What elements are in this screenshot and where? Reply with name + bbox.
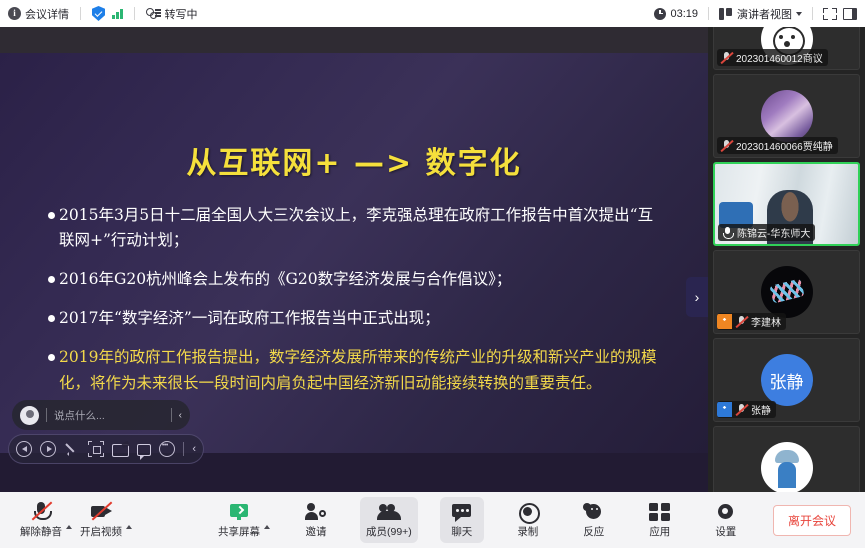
share-screen-group: 共享屏幕 — [212, 497, 272, 543]
participant-tile[interactable] — [713, 426, 860, 492]
slide-bullet-list: 2015年3月5日十二届全国人大三次会议上，李克强总理在政府工作报告中首次提出“… — [48, 203, 668, 410]
spotlight-icon[interactable] — [88, 441, 104, 457]
share-screen-label: 共享屏幕 — [218, 524, 260, 539]
meeting-app-window: i 会议详情 转写中 03:19 演讲者视图 — [0, 0, 865, 548]
meeting-info-label: 会议详情 — [25, 6, 69, 22]
avatar — [761, 442, 813, 492]
avatar — [761, 266, 813, 318]
host-badge-icon — [717, 314, 732, 329]
list-item: 2016年G20杭州峰会上发布的《G20数字经济发展与合作倡议》； — [48, 267, 668, 292]
unmute-button[interactable]: 解除静音 — [14, 497, 68, 543]
view-mode-label: 演讲者视图 — [737, 6, 792, 22]
side-panel-icon[interactable] — [843, 8, 857, 20]
reaction-button[interactable]: 反应 — [572, 497, 616, 543]
signal-bars-icon[interactable] — [112, 8, 123, 19]
start-video-group: 开启视频 — [74, 497, 134, 543]
chat-label: 聊天 — [451, 524, 472, 539]
participants-icon — [378, 502, 400, 521]
pen-icon[interactable] — [64, 441, 80, 457]
participant-label: 202301460012商议 — [717, 49, 828, 66]
bottom-toolbar: 解除静音 开启视频 共享屏幕 邀请 成员(9 — [0, 492, 865, 548]
divider — [134, 7, 135, 20]
chat-bubble-icon — [451, 502, 473, 521]
invite-user-icon — [305, 502, 327, 521]
record-label: 录制 — [517, 524, 538, 539]
top-bar: i 会议详情 转写中 03:19 演讲者视图 — [0, 0, 865, 27]
prev-slide-icon[interactable] — [16, 441, 32, 457]
settings-button[interactable]: 设置 — [704, 497, 748, 543]
members-button[interactable]: 成员(99+) — [360, 497, 418, 543]
list-item: 2017年“数字经济”一词在政府工作报告当中正式出现； — [48, 306, 668, 331]
divider — [812, 7, 813, 20]
divider — [708, 7, 709, 20]
cohost-badge-icon — [717, 402, 732, 417]
elapsed-timer: 03:19 — [654, 8, 698, 20]
reaction-smiley-icon — [583, 502, 605, 521]
apps-grid-icon — [649, 502, 670, 521]
bullet-text: 2016年G20杭州峰会上发布的《G20数字经济发展与合作倡议》； — [59, 267, 668, 292]
elapsed-time: 03:19 — [670, 8, 698, 20]
chat-button[interactable]: 聊天 — [440, 497, 484, 543]
participant-rail[interactable]: 202301460012商议 202301460066贾纯静 陈锦云-华东师大 — [708, 27, 865, 492]
divider — [80, 7, 81, 20]
shield-check-icon[interactable] — [92, 6, 105, 21]
view-mode-selector[interactable]: 演讲者视图 — [719, 6, 802, 22]
mic-muted-icon — [735, 315, 748, 328]
apps-label: 应用 — [649, 524, 670, 539]
reaction-label: 反应 — [583, 524, 604, 539]
unmute-label: 解除静音 — [20, 524, 62, 539]
participant-label: 202301460066贾纯静 — [717, 137, 838, 154]
participant-tile-active-speaker[interactable]: 陈锦云-华东师大 — [713, 162, 860, 246]
chevron-left-icon[interactable]: ‹ — [179, 410, 182, 421]
annotation-toolbar: ‹ — [8, 434, 204, 464]
fullscreen-icon[interactable] — [823, 8, 837, 20]
bullet-text: 2019年的政府工作报告提出，数字经济发展所带来的传统产业的升级和新兴产业的规模… — [59, 345, 668, 395]
bullet-text: 2015年3月5日十二届全国人大三次会议上，李克强总理在政府工作报告中首次提出“… — [59, 203, 668, 253]
mic-muted-icon — [735, 403, 748, 416]
share-screen-button[interactable]: 共享屏幕 — [212, 497, 266, 543]
participant-tile[interactable]: 张静 张静 — [713, 338, 860, 422]
settings-label: 设置 — [715, 524, 736, 539]
bullet-dot-icon — [48, 276, 55, 283]
transcribe-label: 转写中 — [165, 6, 198, 22]
shared-slide: 从互联网+ —> 数字化 2015年3月5日十二届全国人大三次会议上，李克强总理… — [0, 53, 708, 453]
transcribe-icon — [146, 7, 161, 20]
participant-name: 张静 — [751, 402, 771, 417]
next-slide-icon[interactable] — [40, 441, 56, 457]
presentation-stage: 录制中 从互联网+ —> 数字化 2015年3月5日十二届全国人大三次会议上，李… — [0, 27, 708, 492]
participant-name: 陈锦云-华东师大 — [737, 225, 810, 240]
clock-icon — [654, 8, 666, 20]
participant-tile[interactable]: 李建林 — [713, 250, 860, 334]
microphone-muted-icon — [30, 502, 52, 521]
layout-icon — [719, 8, 733, 20]
comment-icon[interactable] — [137, 444, 152, 456]
invite-label: 邀请 — [306, 524, 327, 539]
bullet-dot-icon — [48, 315, 55, 322]
members-label: 成员(99+) — [366, 524, 412, 539]
chevron-down-icon — [796, 12, 802, 16]
record-button[interactable]: 录制 — [506, 497, 550, 543]
participant-tile[interactable]: 202301460012商议 — [713, 27, 860, 70]
divider — [46, 408, 47, 422]
mic-muted-icon — [720, 139, 733, 152]
participant-name: 202301460012商议 — [736, 50, 823, 65]
list-item: 2015年3月5日十二届全国人大三次会议上，李克强总理在政府工作报告中首次提出“… — [48, 203, 668, 253]
bullet-text: 2017年“数字经济”一词在政府工作报告当中正式出现； — [59, 306, 668, 331]
collapse-icon[interactable]: ‹ — [192, 443, 196, 455]
mic-on-icon — [721, 226, 734, 239]
bullet-dot-icon — [48, 212, 55, 219]
participant-label: 张静 — [717, 401, 776, 418]
mic-muted-icon — [720, 51, 733, 64]
divider — [183, 442, 184, 456]
chat-input[interactable]: 说点什么... — [54, 408, 164, 423]
top-bar-right: 03:19 演讲者视图 — [654, 6, 857, 22]
bullet-dot-icon — [48, 354, 55, 361]
record-icon — [517, 502, 539, 521]
user-avatar-icon — [20, 406, 39, 425]
next-participant-page-button[interactable]: › — [686, 277, 708, 317]
info-icon: i — [8, 7, 21, 20]
list-item: 2019年的政府工作报告提出，数字经济发展所带来的传统产业的升级和新兴产业的规模… — [48, 345, 668, 395]
note-icon[interactable] — [112, 444, 129, 457]
participant-name: 李建林 — [751, 314, 781, 329]
unmute-group: 解除静音 — [14, 497, 74, 543]
apps-button[interactable]: 应用 — [638, 497, 682, 543]
leave-meeting-button[interactable]: 离开会议 — [773, 505, 851, 536]
participant-tile[interactable]: 202301460066贾纯静 — [713, 74, 860, 158]
avatar: 张静 — [761, 354, 813, 406]
meeting-info-button[interactable]: i 会议详情 — [8, 6, 69, 22]
participant-label: 陈锦云-华东师大 — [718, 224, 815, 241]
avatar — [761, 90, 813, 142]
more-icon[interactable] — [159, 441, 175, 457]
start-video-label: 开启视频 — [80, 524, 122, 539]
top-bar-left: i 会议详情 转写中 — [8, 6, 198, 22]
divider — [171, 408, 172, 422]
gear-icon — [715, 502, 737, 521]
participant-name: 202301460066贾纯静 — [736, 138, 833, 153]
slide-title: 从互联网+ —> 数字化 — [0, 138, 708, 182]
quick-chat-bar[interactable]: 说点什么... ‹ — [12, 400, 190, 430]
share-screen-icon — [228, 502, 250, 521]
camera-off-icon — [90, 502, 112, 521]
start-video-button[interactable]: 开启视频 — [74, 497, 128, 543]
invite-button[interactable]: 邀请 — [294, 497, 338, 543]
participant-label: 李建林 — [717, 313, 786, 330]
transcribe-status[interactable]: 转写中 — [146, 6, 198, 22]
